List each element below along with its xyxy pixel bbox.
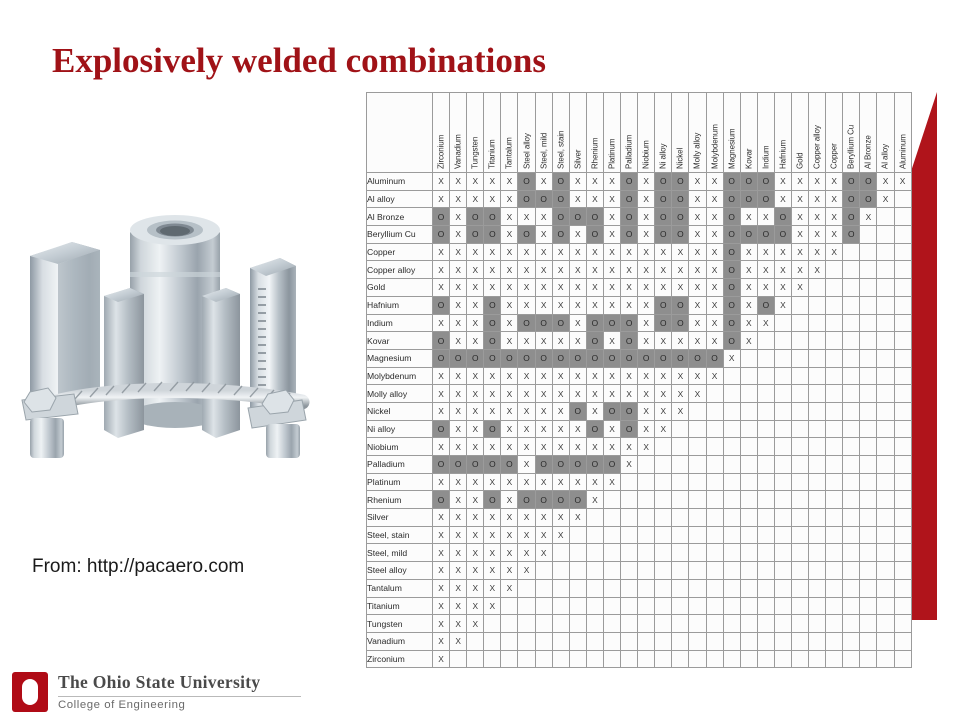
matrix-empty-cell	[774, 314, 791, 332]
matrix-empty-cell	[894, 190, 911, 208]
matrix-empty-cell	[569, 615, 586, 633]
matrix-empty-cell	[689, 544, 706, 562]
matrix-cell: O	[672, 226, 689, 244]
matrix-empty-cell	[569, 579, 586, 597]
matrix-empty-cell	[757, 632, 774, 650]
matrix-cell: X	[501, 509, 518, 527]
matrix-empty-cell	[740, 597, 757, 615]
matrix-empty-cell	[843, 650, 860, 668]
matrix-empty-cell	[603, 597, 620, 615]
matrix-empty-cell	[672, 544, 689, 562]
matrix-empty-cell	[723, 438, 740, 456]
matrix-empty-cell	[826, 650, 843, 668]
matrix-empty-cell	[894, 650, 911, 668]
matrix-empty-cell	[740, 544, 757, 562]
matrix-cell: X	[569, 243, 586, 261]
matrix-empty-cell	[843, 473, 860, 491]
matrix-cell: O	[843, 208, 860, 226]
matrix-cell: X	[433, 562, 450, 580]
matrix-cell: X	[569, 332, 586, 350]
matrix-cell: X	[706, 261, 723, 279]
matrix-cell: X	[450, 261, 467, 279]
matrix-empty-cell	[757, 615, 774, 633]
matrix-cell: X	[740, 243, 757, 261]
matrix-empty-cell	[603, 650, 620, 668]
matrix-empty-cell	[791, 385, 808, 403]
matrix-cell: O	[723, 261, 740, 279]
matrix-cell: X	[603, 173, 620, 191]
matrix-empty-cell	[672, 456, 689, 474]
matrix-empty-cell	[843, 296, 860, 314]
matrix-empty-cell	[706, 562, 723, 580]
matrix-empty-cell	[877, 402, 894, 420]
table-row: Steel, mildXXXXXXX	[367, 544, 912, 562]
matrix-cell: O	[467, 349, 484, 367]
matrix-cell: X	[569, 261, 586, 279]
matrix-cell: X	[467, 473, 484, 491]
matrix-empty-cell	[860, 296, 877, 314]
matrix-empty-cell	[518, 650, 535, 668]
matrix-col-header-label: Tungsten	[471, 137, 480, 169]
matrix-cell: O	[655, 349, 672, 367]
matrix-cell: X	[586, 190, 603, 208]
matrix-col-header-label: Molly alloy	[693, 133, 702, 169]
matrix-empty-cell	[877, 579, 894, 597]
matrix-empty-cell	[757, 438, 774, 456]
matrix-row-header: Copper	[367, 243, 433, 261]
matrix-cell: X	[586, 402, 603, 420]
matrix-cell: X	[433, 438, 450, 456]
matrix-empty-cell	[877, 314, 894, 332]
matrix-empty-cell	[826, 367, 843, 385]
matrix-cell: O	[450, 456, 467, 474]
matrix-cell: X	[809, 190, 826, 208]
matrix-cell: X	[809, 173, 826, 191]
matrix-cell: O	[860, 190, 877, 208]
matrix-cell: X	[655, 279, 672, 297]
table-row: PalladiumOOOOOXOOOOOX	[367, 456, 912, 474]
matrix-empty-cell	[689, 615, 706, 633]
table-row: Copper alloyXXXXXXXXXXXXXXXXXOXXXXX	[367, 261, 912, 279]
matrix-col-header: Steel alloy	[518, 93, 535, 173]
matrix-cell: O	[433, 208, 450, 226]
matrix-cell: X	[518, 544, 535, 562]
matrix-cell: O	[484, 208, 501, 226]
matrix-col-header: Molybdenum	[706, 93, 723, 173]
matrix-row-header: Nickel	[367, 402, 433, 420]
table-row: RheniumOXXOXOOOOX	[367, 491, 912, 509]
matrix-empty-cell	[757, 420, 774, 438]
matrix-row-header: Al Bronze	[367, 208, 433, 226]
matrix-empty-cell	[672, 473, 689, 491]
table-row: ZirconiumX	[367, 650, 912, 668]
osu-o-block-icon	[12, 672, 48, 712]
matrix-empty-cell	[535, 597, 552, 615]
matrix-empty-cell	[723, 544, 740, 562]
matrix-cell: X	[433, 632, 450, 650]
matrix-col-header: Titanium	[484, 93, 501, 173]
matrix-empty-cell	[894, 579, 911, 597]
matrix-empty-cell	[638, 509, 655, 527]
matrix-cell: X	[774, 279, 791, 297]
matrix-empty-cell	[655, 491, 672, 509]
matrix-col-header: Platinum	[603, 93, 620, 173]
matrix-cell: X	[826, 226, 843, 244]
matrix-empty-cell	[774, 562, 791, 580]
matrix-cell: O	[484, 332, 501, 350]
matrix-cell: O	[552, 226, 569, 244]
matrix-empty-cell	[603, 544, 620, 562]
matrix-cell: X	[501, 420, 518, 438]
matrix-empty-cell	[723, 650, 740, 668]
matrix-cell: O	[723, 208, 740, 226]
matrix-empty-cell	[843, 279, 860, 297]
matrix-cell: O	[621, 226, 638, 244]
matrix-cell: X	[569, 509, 586, 527]
matrix-cell: O	[621, 332, 638, 350]
matrix-cell: X	[433, 279, 450, 297]
matrix-cell: X	[552, 367, 569, 385]
matrix-empty-cell	[877, 597, 894, 615]
matrix-cell: O	[843, 226, 860, 244]
matrix-cell: O	[621, 420, 638, 438]
matrix-cell: X	[569, 473, 586, 491]
matrix-cell: O	[433, 456, 450, 474]
matrix-col-header-label: Molybdenum	[710, 124, 719, 169]
matrix-empty-cell	[689, 526, 706, 544]
matrix-col-header-label: Niobium	[642, 140, 651, 169]
matrix-cell: X	[569, 226, 586, 244]
explosive-weld-parts-photo	[12, 168, 330, 458]
matrix-cell: X	[535, 208, 552, 226]
matrix-empty-cell	[877, 438, 894, 456]
matrix-empty-cell	[638, 456, 655, 474]
matrix-empty-cell	[689, 579, 706, 597]
matrix-empty-cell	[877, 367, 894, 385]
matrix-col-header-label: Steel alloy	[522, 133, 531, 169]
matrix-cell: X	[501, 438, 518, 456]
matrix-cell: X	[450, 208, 467, 226]
matrix-empty-cell	[689, 562, 706, 580]
matrix-cell: X	[552, 473, 569, 491]
matrix-cell: X	[484, 367, 501, 385]
matrix-cell: O	[843, 190, 860, 208]
matrix-col-header: Nickel	[672, 93, 689, 173]
matrix-cell: X	[586, 173, 603, 191]
matrix-cell: X	[501, 562, 518, 580]
matrix-empty-cell	[860, 544, 877, 562]
matrix-empty-cell	[774, 402, 791, 420]
matrix-cell: X	[655, 385, 672, 403]
matrix-cell: X	[638, 173, 655, 191]
matrix-row-header: Steel, mild	[367, 544, 433, 562]
matrix-empty-cell	[826, 402, 843, 420]
matrix-empty-cell	[809, 526, 826, 544]
matrix-cell: X	[603, 261, 620, 279]
matrix-cell: X	[501, 314, 518, 332]
matrix-empty-cell	[774, 579, 791, 597]
matrix-cell: X	[552, 402, 569, 420]
matrix-empty-cell	[706, 615, 723, 633]
matrix-empty-cell	[843, 615, 860, 633]
matrix-cell: O	[672, 190, 689, 208]
matrix-empty-cell	[843, 314, 860, 332]
osu-logo-divider	[58, 696, 301, 697]
matrix-cell: X	[484, 526, 501, 544]
matrix-empty-cell	[740, 385, 757, 403]
matrix-cell: X	[467, 491, 484, 509]
matrix-col-header: Indium	[757, 93, 774, 173]
matrix-cell: X	[518, 402, 535, 420]
matrix-cell: O	[569, 208, 586, 226]
matrix-col-header: Ni alloy	[655, 93, 672, 173]
matrix-empty-cell	[586, 509, 603, 527]
matrix-empty-cell	[826, 491, 843, 509]
matrix-empty-cell	[757, 491, 774, 509]
matrix-row-header: Titanium	[367, 597, 433, 615]
matrix-empty-cell	[706, 579, 723, 597]
matrix-col-header-label: Copper alloy	[813, 125, 822, 169]
matrix-empty-cell	[877, 243, 894, 261]
matrix-cell: X	[757, 261, 774, 279]
matrix-empty-cell	[484, 650, 501, 668]
matrix-cell: O	[518, 314, 535, 332]
welding-compatibility-matrix: ZirconiumVanadiumTungstenTitaniumTantalu…	[366, 92, 912, 668]
matrix-col-header-label: Rhenium	[590, 138, 599, 169]
matrix-cell: X	[518, 332, 535, 350]
matrix-empty-cell	[723, 367, 740, 385]
matrix-cell: X	[552, 279, 569, 297]
matrix-row-header: Al alloy	[367, 190, 433, 208]
matrix-empty-cell	[552, 650, 569, 668]
matrix-empty-cell	[791, 544, 808, 562]
matrix-empty-cell	[552, 579, 569, 597]
matrix-cell: X	[484, 261, 501, 279]
matrix-cell: X	[433, 526, 450, 544]
matrix-cell: O	[672, 208, 689, 226]
matrix-col-header-label: Ni alloy	[659, 144, 668, 169]
matrix-empty-cell	[689, 420, 706, 438]
matrix-cell: X	[467, 190, 484, 208]
matrix-empty-cell	[518, 632, 535, 650]
matrix-corner-cell	[367, 93, 433, 173]
matrix-cell: X	[706, 243, 723, 261]
matrix-empty-cell	[843, 544, 860, 562]
matrix-empty-cell	[501, 597, 518, 615]
matrix-cell: X	[450, 243, 467, 261]
matrix-table-wrap: ZirconiumVanadiumTungstenTitaniumTantalu…	[366, 92, 937, 620]
matrix-empty-cell	[740, 438, 757, 456]
matrix-cell: X	[552, 385, 569, 403]
compatibility-matrix-figure: ZirconiumVanadiumTungstenTitaniumTantalu…	[366, 92, 938, 682]
table-row: Al BronzeOXOOXXXOOOXOXOOXXOXXOXXXOX	[367, 208, 912, 226]
matrix-cell: X	[535, 473, 552, 491]
matrix-cell: O	[655, 296, 672, 314]
matrix-cell: X	[638, 402, 655, 420]
matrix-cell: X	[689, 279, 706, 297]
matrix-cell: X	[467, 296, 484, 314]
matrix-cell: O	[603, 349, 620, 367]
matrix-empty-cell	[655, 544, 672, 562]
matrix-empty-cell	[689, 632, 706, 650]
matrix-empty-cell	[894, 509, 911, 527]
matrix-empty-cell	[723, 491, 740, 509]
matrix-cell: X	[433, 579, 450, 597]
matrix-cell: X	[569, 385, 586, 403]
matrix-cell: X	[689, 208, 706, 226]
matrix-row-header: Palladium	[367, 456, 433, 474]
matrix-empty-cell	[843, 632, 860, 650]
matrix-col-header-label: Copper	[830, 143, 839, 169]
matrix-cell: X	[467, 615, 484, 633]
matrix-empty-cell	[843, 332, 860, 350]
matrix-empty-cell	[757, 349, 774, 367]
matrix-cell: X	[535, 173, 552, 191]
matrix-empty-cell	[655, 597, 672, 615]
matrix-cell: X	[621, 438, 638, 456]
matrix-empty-cell	[706, 650, 723, 668]
matrix-empty-cell	[877, 544, 894, 562]
matrix-empty-cell	[860, 650, 877, 668]
matrix-cell: X	[586, 438, 603, 456]
matrix-cell: X	[552, 296, 569, 314]
matrix-cell: X	[552, 509, 569, 527]
matrix-cell: X	[586, 261, 603, 279]
matrix-cell: X	[450, 332, 467, 350]
matrix-empty-cell	[586, 597, 603, 615]
matrix-cell: O	[552, 208, 569, 226]
matrix-empty-cell	[860, 349, 877, 367]
matrix-empty-cell	[723, 632, 740, 650]
matrix-col-header-label: Steel, stain	[556, 131, 565, 169]
matrix-empty-cell	[774, 456, 791, 474]
matrix-cell: X	[860, 208, 877, 226]
table-row: Ni alloyOXXOXXXXXOXOXX	[367, 420, 912, 438]
matrix-cell: O	[535, 190, 552, 208]
matrix-cell: X	[433, 190, 450, 208]
matrix-empty-cell	[689, 473, 706, 491]
matrix-empty-cell	[877, 208, 894, 226]
matrix-col-header: Al Bronze	[860, 93, 877, 173]
matrix-cell: X	[791, 279, 808, 297]
matrix-cell: X	[569, 279, 586, 297]
matrix-cell: X	[603, 420, 620, 438]
matrix-empty-cell	[809, 562, 826, 580]
matrix-empty-cell	[672, 526, 689, 544]
matrix-cell: O	[518, 226, 535, 244]
matrix-cell: X	[535, 509, 552, 527]
table-row: GoldXXXXXXXXXXXXXXXXXOXXXX	[367, 279, 912, 297]
matrix-row-header: Gold	[367, 279, 433, 297]
matrix-row-header: Copper alloy	[367, 261, 433, 279]
matrix-cell: X	[603, 208, 620, 226]
matrix-cell: O	[552, 314, 569, 332]
matrix-cell: O	[552, 491, 569, 509]
matrix-cell: X	[569, 190, 586, 208]
matrix-col-header-label: Indium	[761, 146, 770, 169]
matrix-cell: O	[586, 456, 603, 474]
matrix-row-header: Tantalum	[367, 579, 433, 597]
matrix-empty-cell	[672, 615, 689, 633]
matrix-cell: O	[484, 226, 501, 244]
matrix-empty-cell	[894, 615, 911, 633]
matrix-cell: X	[450, 402, 467, 420]
matrix-col-header: Molly alloy	[689, 93, 706, 173]
matrix-cell: O	[655, 173, 672, 191]
matrix-empty-cell	[518, 579, 535, 597]
matrix-cell: X	[569, 296, 586, 314]
matrix-cell: X	[535, 438, 552, 456]
matrix-empty-cell	[552, 562, 569, 580]
matrix-cell: X	[518, 208, 535, 226]
matrix-empty-cell	[809, 615, 826, 633]
matrix-empty-cell	[757, 544, 774, 562]
matrix-cell: X	[450, 473, 467, 491]
matrix-cell: X	[535, 243, 552, 261]
matrix-cell: X	[791, 261, 808, 279]
matrix-empty-cell	[894, 402, 911, 420]
matrix-empty-cell	[467, 650, 484, 668]
matrix-cell: X	[467, 579, 484, 597]
matrix-cell: X	[450, 597, 467, 615]
matrix-cell: X	[655, 261, 672, 279]
matrix-cell: X	[501, 473, 518, 491]
matrix-cell: X	[501, 208, 518, 226]
matrix-cell: X	[791, 243, 808, 261]
matrix-empty-cell	[877, 562, 894, 580]
matrix-cell: X	[621, 279, 638, 297]
matrix-empty-cell	[689, 650, 706, 668]
matrix-cell: X	[638, 438, 655, 456]
matrix-cell: X	[689, 332, 706, 350]
matrix-cell: X	[450, 615, 467, 633]
matrix-empty-cell	[535, 615, 552, 633]
matrix-cell: O	[569, 491, 586, 509]
matrix-empty-cell	[552, 632, 569, 650]
matrix-cell: X	[774, 173, 791, 191]
matrix-cell: O	[723, 173, 740, 191]
matrix-col-header: Kovar	[740, 93, 757, 173]
matrix-cell: O	[655, 314, 672, 332]
matrix-cell: X	[501, 261, 518, 279]
matrix-cell: X	[535, 296, 552, 314]
matrix-cell: O	[484, 349, 501, 367]
matrix-cell: X	[535, 226, 552, 244]
matrix-empty-cell	[877, 332, 894, 350]
matrix-cell: X	[689, 367, 706, 385]
matrix-cell: X	[586, 473, 603, 491]
matrix-cell: O	[655, 190, 672, 208]
matrix-cell: X	[621, 261, 638, 279]
matrix-empty-cell	[894, 473, 911, 491]
matrix-cell: O	[518, 349, 535, 367]
matrix-empty-cell	[877, 526, 894, 544]
matrix-cell: X	[706, 190, 723, 208]
table-row: CopperXXXXXXXXXXXXXXXXXOXXXXXX	[367, 243, 912, 261]
matrix-empty-cell	[484, 615, 501, 633]
matrix-empty-cell	[894, 226, 911, 244]
matrix-cell: X	[450, 632, 467, 650]
matrix-cell: X	[535, 544, 552, 562]
matrix-cell: X	[791, 208, 808, 226]
matrix-empty-cell	[552, 597, 569, 615]
matrix-empty-cell	[450, 650, 467, 668]
matrix-empty-cell	[809, 632, 826, 650]
matrix-cell: X	[638, 190, 655, 208]
matrix-empty-cell	[569, 650, 586, 668]
matrix-cell: X	[655, 332, 672, 350]
matrix-empty-cell	[791, 650, 808, 668]
